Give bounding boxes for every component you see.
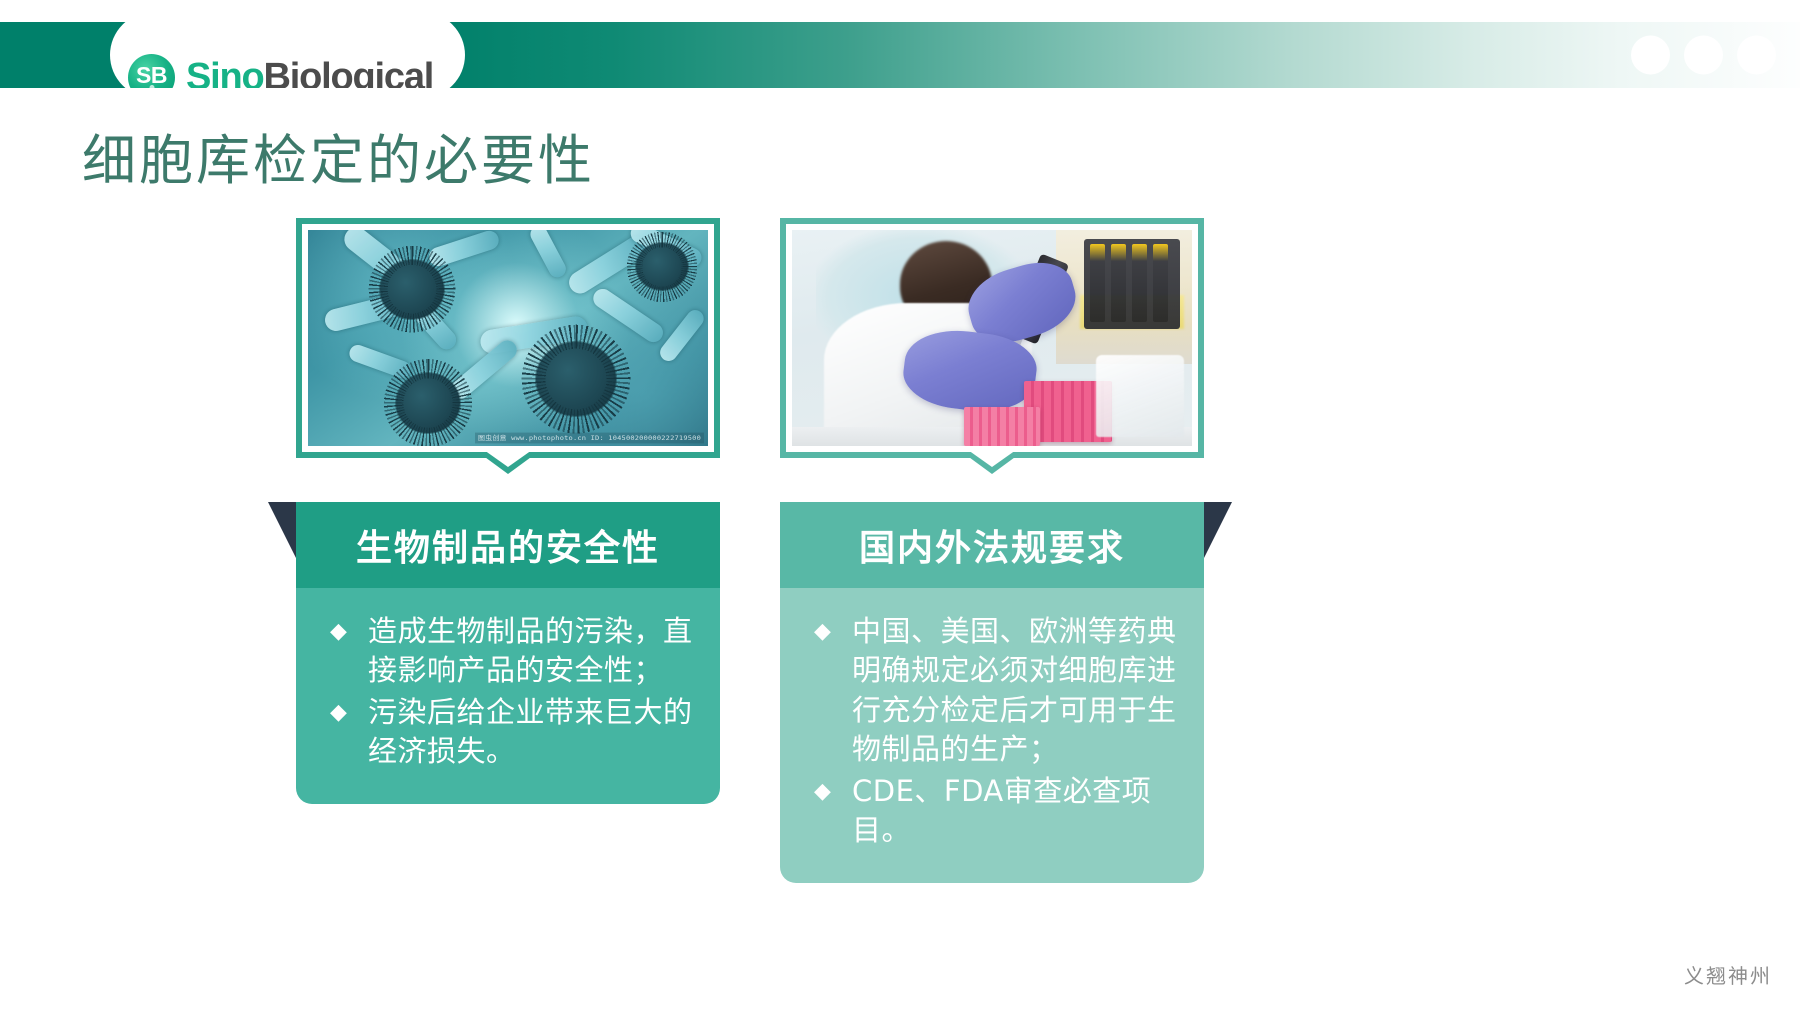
- card-regulations: 国内外法规要求 ◆ 中国、美国、欧洲等药典明确规定必须对细胞库进行充分检定后才可…: [780, 218, 1204, 883]
- list-item: ◆ 中国、美国、欧洲等药典明确规定必须对细胞库进行充分检定后才可用于生物制品的生…: [806, 612, 1178, 770]
- card-title-shadow-fold: [268, 502, 296, 558]
- bullet-list-regulations: ◆ 中国、美国、欧洲等药典明确规定必须对细胞库进行充分检定后才可用于生物制品的生…: [806, 612, 1178, 851]
- diamond-bullet-icon: ◆: [806, 612, 852, 651]
- brand-wordmark-biological: Biological: [264, 56, 434, 88]
- diamond-bullet-icon: ◆: [806, 772, 852, 811]
- lab-bag: [1096, 355, 1184, 437]
- page-header: SB SinoBiological: [0, 22, 1800, 88]
- pipette-rack-icon: [1084, 239, 1180, 330]
- brand-wordmark-sino: Sino: [186, 56, 264, 88]
- sb-badge-icon: SB: [128, 54, 175, 89]
- card-title-label: 生物制品的安全性: [356, 519, 660, 571]
- diamond-bullet-icon: ◆: [322, 612, 368, 651]
- bullet-list-biosafety: ◆ 造成生物制品的污染，直接影响产品的安全性； ◆ 污染后给企业带来巨大的经济损…: [322, 612, 694, 772]
- bullet-text: 造成生物制品的污染，直接影响产品的安全性；: [368, 612, 694, 691]
- card-connector-notch: [962, 452, 1022, 474]
- header-dot-icon-1: [1631, 36, 1670, 75]
- bullet-text: CDE、FDA审查必查项目。: [852, 772, 1178, 851]
- card-title-shadow-fold: [1204, 502, 1232, 558]
- card-title-biosafety: 生物制品的安全性: [296, 502, 720, 588]
- header-dot-icon-3: [1737, 36, 1776, 75]
- card-connector-notch: [478, 452, 538, 474]
- list-item: ◆ 造成生物制品的污染，直接影响产品的安全性；: [322, 612, 694, 691]
- header-dot-icon-2: [1684, 36, 1723, 75]
- diamond-bullet-icon: ◆: [322, 693, 368, 732]
- bacteria-virus-microscopy-photo: 图虫创意 www.photophoto.cn ID: 1045002000002…: [308, 230, 708, 446]
- card-biosafety: 图虫创意 www.photophoto.cn ID: 1045002000002…: [296, 218, 720, 804]
- footer-brand-label: 义翘神州: [1684, 960, 1772, 989]
- card-body-regulations: ◆ 中国、美国、欧洲等药典明确规定必须对细胞库进行充分检定后才可用于生物制品的生…: [780, 588, 1204, 883]
- photo-credit-watermark: 图虫创意 www.photophoto.cn ID: 1045002000002…: [475, 433, 704, 444]
- card-title-label: 国内外法规要求: [859, 519, 1125, 571]
- list-item: ◆ CDE、FDA审查必查项目。: [806, 772, 1178, 851]
- card-title-regulations: 国内外法规要求: [780, 502, 1204, 588]
- brand-logo[interactable]: SB SinoBiological: [128, 46, 433, 88]
- photo-frame-regulations: [780, 218, 1204, 458]
- brand-wordmark: SinoBiological: [186, 58, 433, 88]
- page-title: 细胞库检定的必要性: [82, 116, 595, 195]
- lab-technician-pipetting-photo: [792, 230, 1192, 446]
- list-item: ◆ 污染后给企业带来巨大的经济损失。: [322, 693, 694, 772]
- card-body-biosafety: ◆ 造成生物制品的污染，直接影响产品的安全性； ◆ 污染后给企业带来巨大的经济损…: [296, 588, 720, 804]
- sb-badge-label: SB: [136, 64, 167, 87]
- bullet-text: 污染后给企业带来巨大的经济损失。: [368, 693, 694, 772]
- bullet-text: 中国、美国、欧洲等药典明确规定必须对细胞库进行充分检定后才可用于生物制品的生产；: [852, 612, 1178, 770]
- header-dot-decoration: [1631, 36, 1776, 75]
- photo-frame-biosafety: 图虫创意 www.photophoto.cn ID: 1045002000002…: [296, 218, 720, 458]
